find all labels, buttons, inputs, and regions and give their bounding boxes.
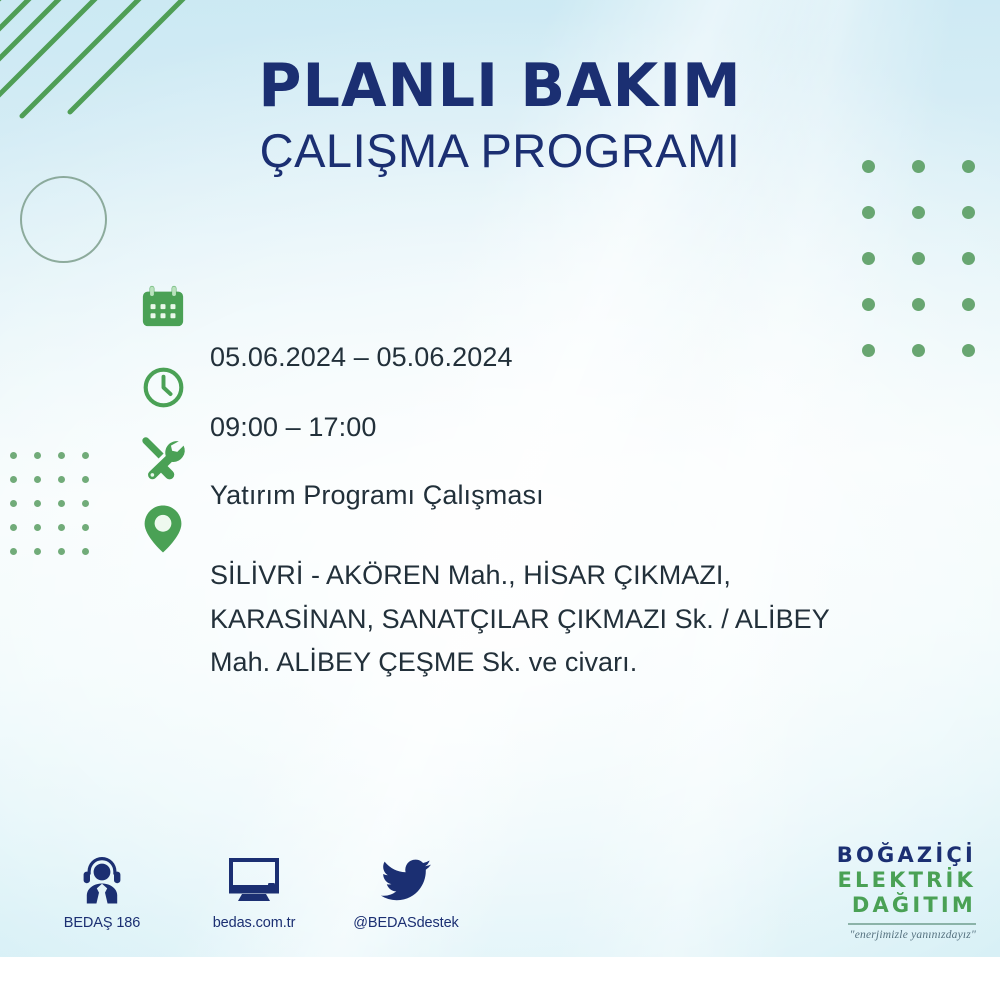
date-range-text: 05.06.2024 – 05.06.2024: [210, 342, 513, 373]
tools-icon: [134, 430, 192, 488]
address-line-1: SİLİVRİ - AKÖREN Mah., HİSAR ÇIKMAZI,: [210, 554, 970, 598]
bedas-logo: BOĞAZİÇİ ELEKTRİK DAĞITIM "enerjimizle y…: [837, 845, 976, 942]
dot-grid-left-decoration: [10, 452, 106, 572]
calendar-icon: [134, 278, 192, 336]
address-text: SİLİVRİ - AKÖREN Mah., HİSAR ÇIKMAZI, KA…: [210, 554, 970, 685]
contact-twitter[interactable]: @BEDASdestek: [352, 848, 460, 931]
address-line-2: KARASİNAN, SANATÇILAR ÇIKMAZI Sk. / ALİB…: [210, 598, 970, 642]
circle-outline-decoration: [20, 176, 107, 263]
work-type-text: Yatırım Programı Çalışması: [210, 480, 544, 511]
brand-divider: [848, 923, 976, 925]
contact-twitter-label: @BEDASdestek: [352, 915, 460, 931]
contact-website[interactable]: bedas.com.tr: [200, 848, 308, 931]
brand-tagline: "enerjimizle yanınızdayız": [837, 930, 976, 942]
brand-line-1: BOĞAZİÇİ: [837, 845, 976, 866]
twitter-bird-icon: [352, 848, 460, 904]
footer-contacts: BEDAŞ 186 bedas.com.tr: [48, 848, 460, 931]
brand-line-2: ELEKTRİK: [837, 870, 976, 891]
page-title: PLANLI BAKIM ÇALIŞMA PROGRAMI: [0, 55, 1000, 177]
location-pin-icon: [134, 500, 192, 558]
time-range-text: 09:00 – 17:00: [210, 412, 376, 443]
title-line-2: ÇALIŞMA PROGRAMI: [0, 125, 1000, 178]
clock-icon: [134, 358, 192, 416]
address-line-3: Mah. ALİBEY ÇEŞME Sk. ve civarı.: [210, 641, 970, 685]
contact-call-center[interactable]: BEDAŞ 186: [48, 848, 156, 931]
support-agent-icon: [48, 848, 156, 904]
title-line-1: PLANLI BAKIM: [10, 55, 990, 119]
contact-call-center-label: BEDAŞ 186: [48, 915, 156, 931]
dot-grid-right-decoration: [862, 160, 1000, 390]
brand-line-3: DAĞITIM: [837, 895, 976, 916]
contact-website-label: bedas.com.tr: [200, 915, 308, 931]
bottom-white-strip: [0, 957, 1000, 1000]
monitor-icon: [200, 848, 308, 904]
planned-maintenance-poster: PLANLI BAKIM ÇALIŞMA PROGRAMI: [0, 0, 1000, 1000]
